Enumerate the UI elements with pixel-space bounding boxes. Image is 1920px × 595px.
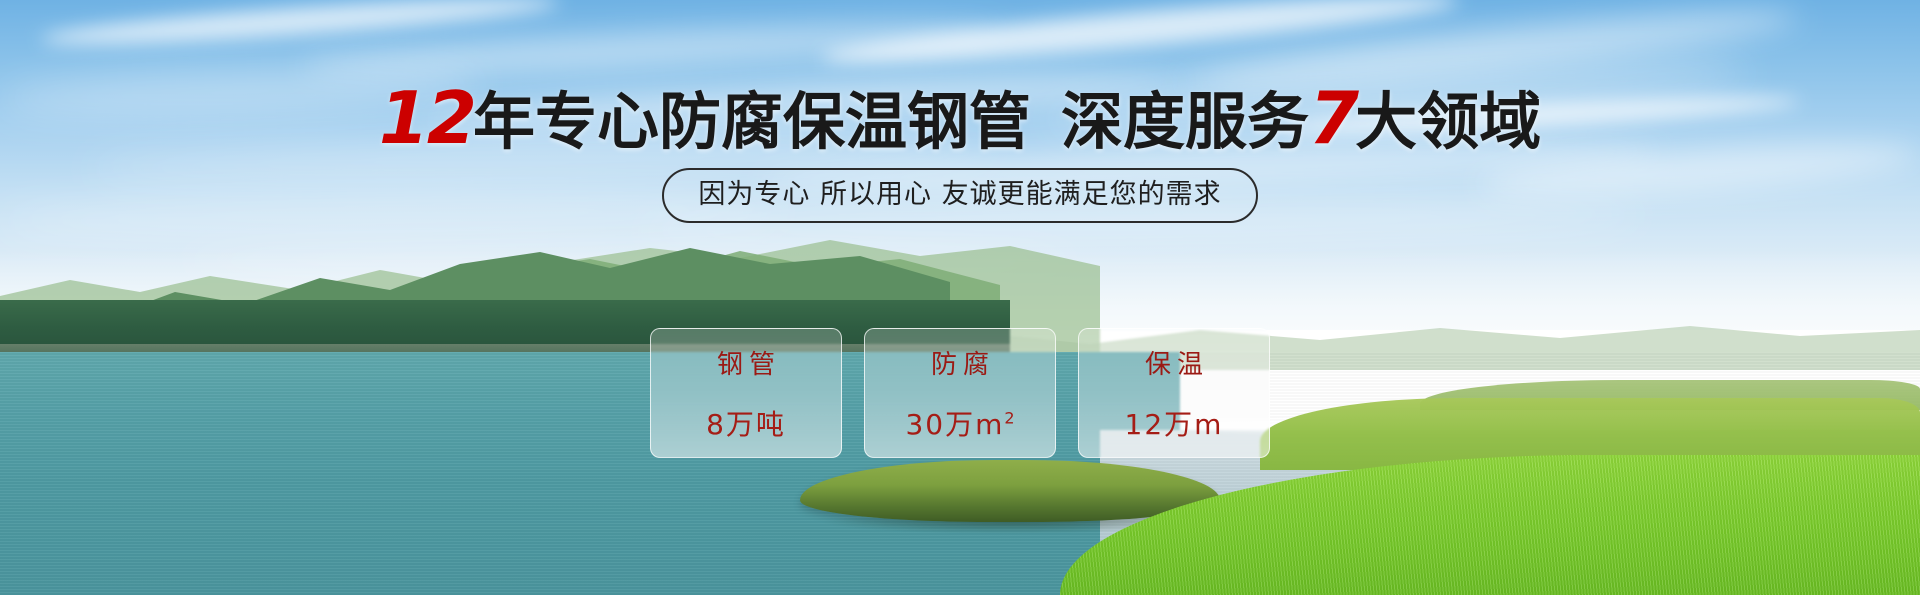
stat-card-label: 防腐 (925, 344, 995, 381)
headline-fields-suffix: 大领域 (1355, 85, 1541, 158)
subtitle-pill: 因为专心 所以用心 友诚更能满足您的需求 (662, 168, 1257, 223)
stat-card-list: 钢管 8万吨 防腐 30万m2 保温 12万m (650, 328, 1270, 458)
stat-card-label: 保温 (1139, 344, 1209, 381)
stat-card-label: 钢管 (711, 344, 781, 381)
stat-card-value: 12万m (1125, 403, 1224, 443)
headline-years-number: 12 (379, 76, 475, 160)
stat-card-insulation[interactable]: 保温 12万m (1078, 328, 1270, 458)
hero-banner: 12年专心防腐保温钢管深度服务7大领域 因为专心 所以用心 友诚更能满足您的需求… (0, 0, 1920, 595)
headline-fields-number: 7 (1309, 76, 1357, 160)
page-title: 12年专心防腐保温钢管深度服务7大领域 (0, 82, 1920, 154)
stat-card-value: 30万m2 (905, 403, 1014, 443)
headline-main-text: 年专心防腐保温钢管 (473, 85, 1031, 158)
headline-service-text: 深度服务 (1061, 85, 1309, 158)
stat-card-steel-pipe[interactable]: 钢管 8万吨 (650, 328, 842, 458)
subtitle-container: 因为专心 所以用心 友诚更能满足您的需求 (0, 168, 1920, 223)
stat-card-value-superscript: 2 (1004, 408, 1014, 427)
stat-card-anticorrosion[interactable]: 防腐 30万m2 (864, 328, 1056, 458)
stat-card-value: 8万吨 (706, 403, 786, 443)
